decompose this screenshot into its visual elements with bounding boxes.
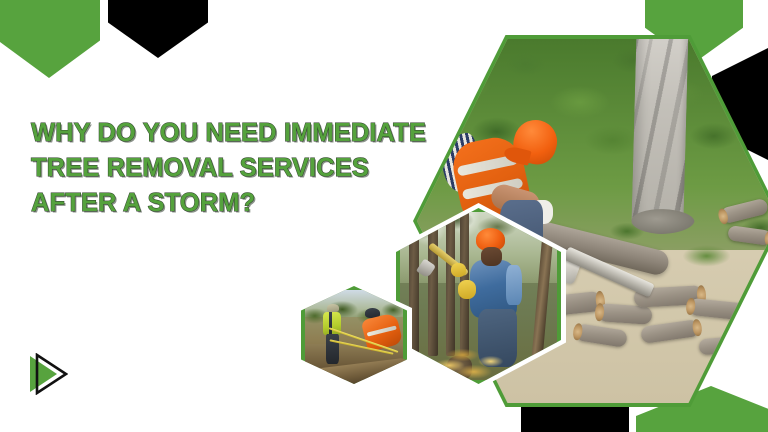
woodcutter-glove	[451, 263, 466, 277]
photo-axe-woodcutter-image	[400, 212, 557, 380]
woodcutter-face	[481, 247, 501, 266]
forest-tree-trunk	[446, 212, 455, 356]
banner-canvas: WHY DO YOU NEED IMMEDIATE TREE REMOVAL S…	[0, 0, 768, 432]
play-triangle-icon	[35, 353, 68, 395]
play-button[interactable]: Play	[30, 352, 74, 398]
log	[575, 323, 628, 347]
hexagon-green-top-left	[0, 0, 100, 78]
photo-workers-measuring-frame	[301, 286, 407, 384]
birch-trunk	[632, 39, 690, 229]
worker-trousers	[326, 334, 339, 364]
scene-axe-woodcutter	[400, 212, 557, 380]
woodcutter-glove	[458, 280, 477, 299]
forest-tree-trunk	[428, 212, 437, 356]
photo-axe-woodcutter-frame	[396, 208, 561, 384]
scene-workers-measuring	[305, 290, 403, 380]
hexagon-black-top-left	[108, 0, 208, 58]
log	[688, 298, 751, 322]
page-title: WHY DO YOU NEED IMMEDIATE TREE REMOVAL S…	[31, 116, 441, 221]
worker-hard-hat	[509, 116, 562, 169]
log	[641, 319, 701, 344]
photo-workers-measuring-image	[305, 290, 403, 380]
log	[699, 335, 754, 356]
play-button-label: Play	[30, 352, 31, 353]
